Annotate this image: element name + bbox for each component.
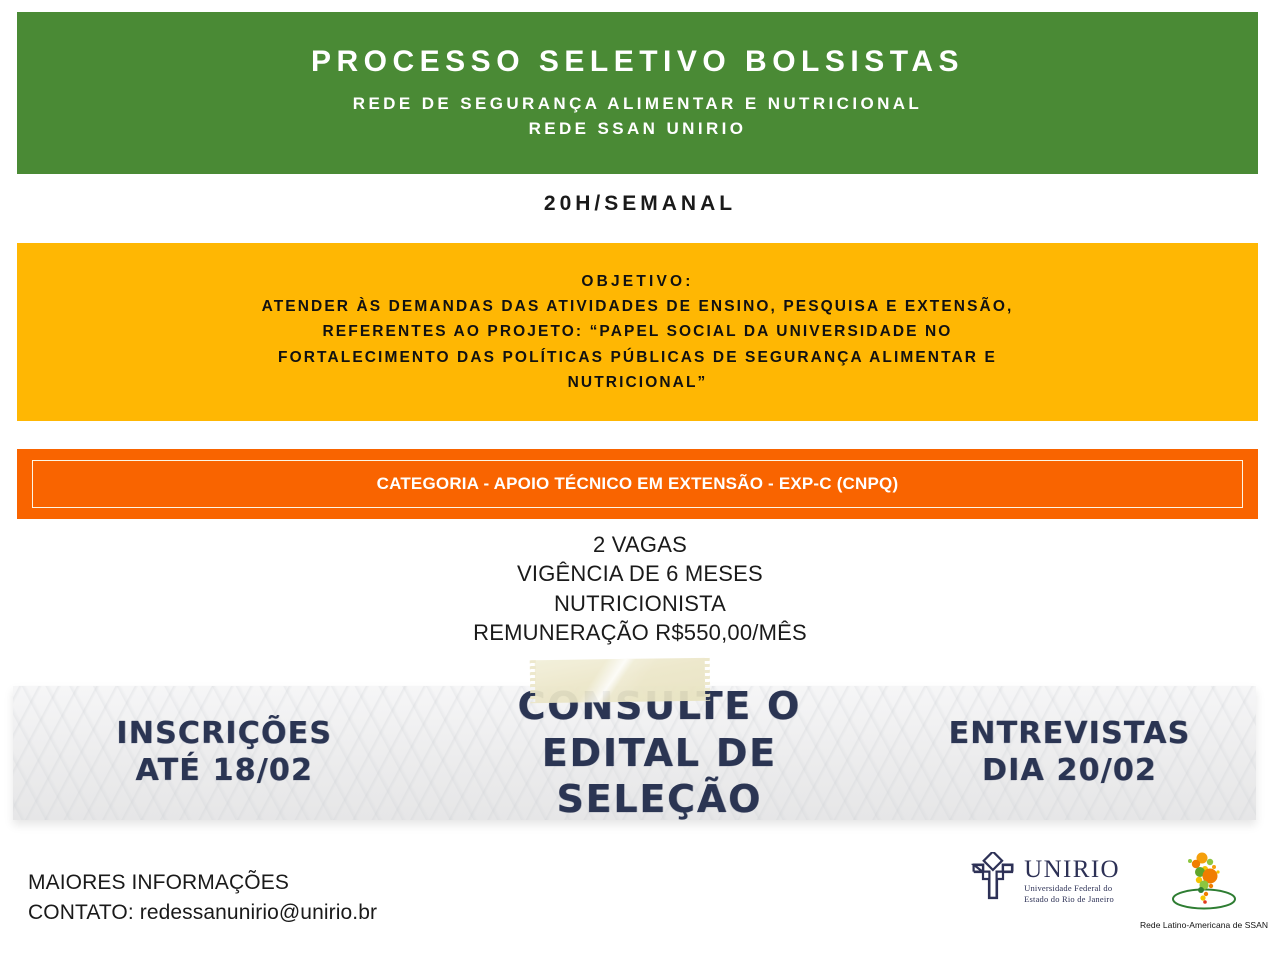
details-line-vagas: 2 VAGAS [0, 530, 1280, 559]
unirio-tagline-2: Estado do Rio de Janeiro [1024, 894, 1120, 904]
objective-block: OBJETIVO: ATENDER ÀS DEMANDAS DAS ATIVID… [17, 243, 1258, 421]
objective-line-4: NUTRICIONAL” [568, 370, 708, 395]
objective-label: OBJETIVO: [581, 269, 693, 294]
ssan-map-icon [1156, 852, 1252, 919]
header-banner: PROCESSO SELETIVO BOLSISTAS REDE DE SEGU… [17, 12, 1258, 174]
header-subtitle-line-2: REDE SSAN UNIRIO [353, 117, 922, 142]
tape-shine [565, 658, 671, 702]
footer-logos: UNIRIO Universidade Federal do Estado do… [969, 852, 1266, 930]
details-line-vigencia: VIGÊNCIA DE 6 MESES [0, 559, 1280, 588]
dates-paper-banner: INSCRIÇÕES ATÉ 18/02 CONSULTE O EDITAL D… [13, 686, 1256, 820]
ssan-caption: Rede Latino-Americana de SSAN [1140, 920, 1268, 930]
footer-contact-email: CONTATO: redessanunirio@unirio.br [28, 898, 377, 928]
banner-interviews: ENTREVISTAS DIA 20/02 [883, 716, 1256, 789]
objective-line-3: FORTALECIMENTO DAS POLÍTICAS PÚBLICAS DE… [278, 345, 997, 370]
unirio-tagline-1: Universidade Federal do [1024, 883, 1120, 893]
category-text: CATEGORIA - APOIO TÉCNICO EM EXTENSÃO - … [377, 474, 899, 494]
tape-strip-icon [535, 658, 706, 703]
page-title: PROCESSO SELETIVO BOLSISTAS [311, 45, 964, 78]
unirio-wordmark: UNIRIO Universidade Federal do Estado do… [1024, 857, 1120, 904]
category-bar: CATEGORIA - APOIO TÉCNICO EM EXTENSÃO - … [17, 449, 1258, 519]
inscriptions-label: INSCRIÇÕES [13, 716, 436, 753]
unirio-name: UNIRIO [1024, 857, 1120, 882]
category-inner-frame: CATEGORIA - APOIO TÉCNICO EM EXTENSÃO - … [32, 460, 1243, 508]
objective-line-2: REFERENTES AO PROJETO: “PAPEL SOCIAL DA … [323, 319, 953, 344]
banner-edital-callout[interactable]: CONSULTE O EDITAL DE SELEÇÃO [436, 683, 883, 822]
footer-contact: MAIORES INFORMAÇÕES CONTATO: redessanuni… [28, 868, 377, 928]
inscriptions-deadline: ATÉ 18/02 [13, 753, 436, 790]
edital-line-2: EDITAL DE SELEÇÃO [436, 730, 883, 823]
footer-info-line: MAIORES INFORMAÇÕES [28, 868, 377, 898]
interviews-label: ENTREVISTAS [883, 716, 1256, 753]
unirio-emblem-icon [969, 852, 1017, 909]
unirio-logo: UNIRIO Universidade Federal do Estado do… [969, 852, 1120, 909]
details-line-cargo: NUTRICIONISTA [0, 589, 1280, 618]
banner-inscriptions: INSCRIÇÕES ATÉ 18/02 [13, 716, 436, 789]
objective-line-1: ATENDER ÀS DEMANDAS DAS ATIVIDADES DE EN… [262, 294, 1014, 319]
workload-text: 20H/SEMANAL [0, 192, 1280, 216]
details-line-remuneracao: REMUNERAÇÃO R$550,00/MÊS [0, 618, 1280, 647]
ssan-logo: Rede Latino-Americana de SSAN [1142, 852, 1266, 930]
interviews-date: DIA 20/02 [883, 753, 1256, 790]
header-subtitle-line-1: REDE DE SEGURANÇA ALIMENTAR E NUTRICIONA… [353, 92, 922, 117]
vacancy-details: 2 VAGAS VIGÊNCIA DE 6 MESES NUTRICIONIST… [0, 530, 1280, 647]
header-subtitle: REDE DE SEGURANÇA ALIMENTAR E NUTRICIONA… [353, 92, 922, 141]
